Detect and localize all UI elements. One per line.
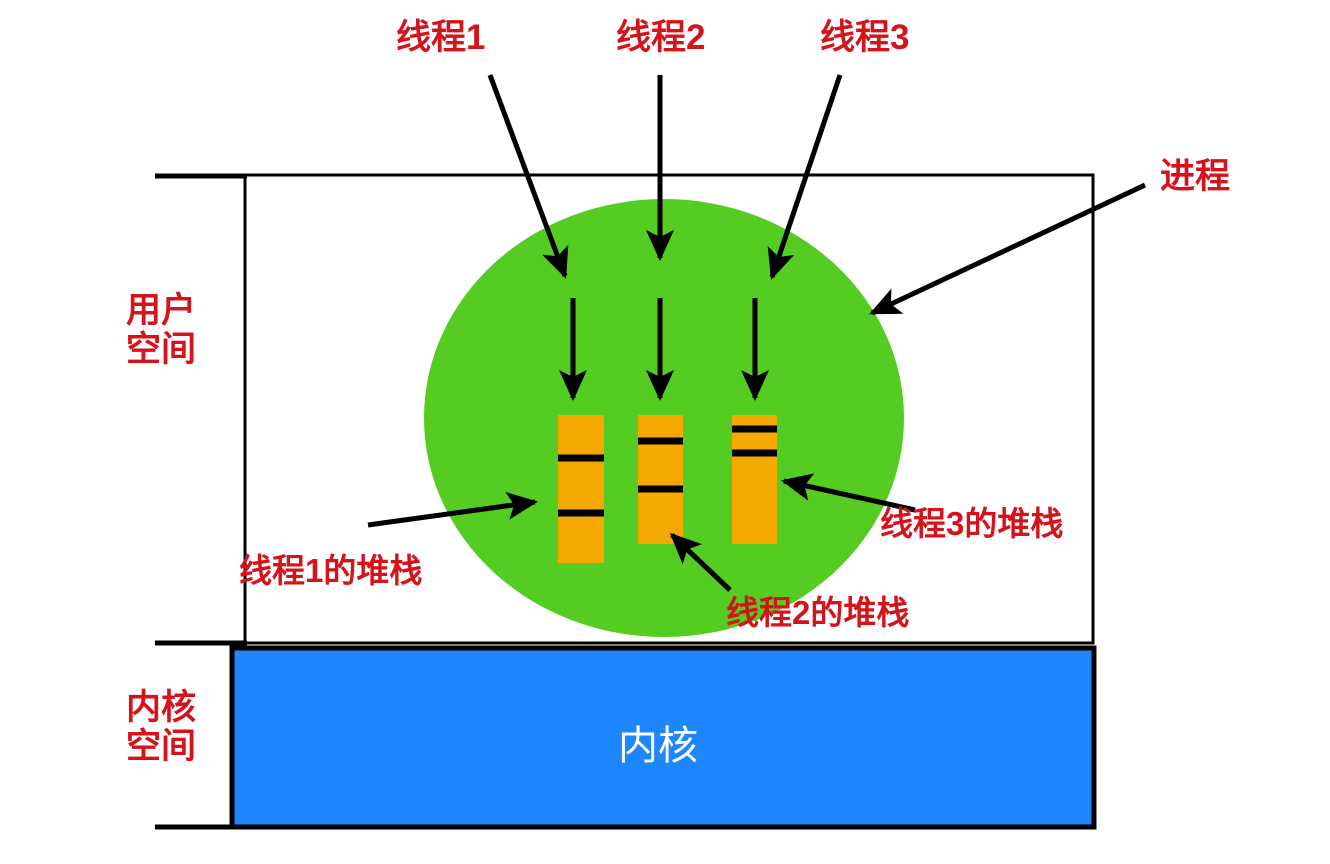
thread3-stack-shape: [732, 415, 777, 544]
diagram-canvas: 线程1 线程2 线程3 进程 用户 空间 内核 空间 内核 线程1的堆栈 线程2…: [0, 0, 1330, 864]
kernel-block-label: 内核: [618, 713, 698, 771]
thread1-stack-shape: [558, 415, 604, 563]
thread2-stack-label: 线程2的堆栈: [726, 595, 909, 632]
thread3-stack-label: 线程3的堆栈: [880, 506, 1063, 543]
user-space-label: 用户 空间: [126, 291, 196, 369]
kernel-space-label: 内核 空间: [126, 688, 196, 766]
process-callout-arrow: [872, 185, 1145, 313]
thread1-stack-label: 线程1的堆栈: [239, 553, 422, 590]
thread3-label: 线程3: [820, 18, 909, 57]
thread1-label: 线程1: [396, 18, 485, 57]
thread2-label: 线程2: [616, 18, 705, 57]
thread2-stack-shape: [638, 415, 683, 544]
process-label: 进程: [1160, 157, 1230, 196]
